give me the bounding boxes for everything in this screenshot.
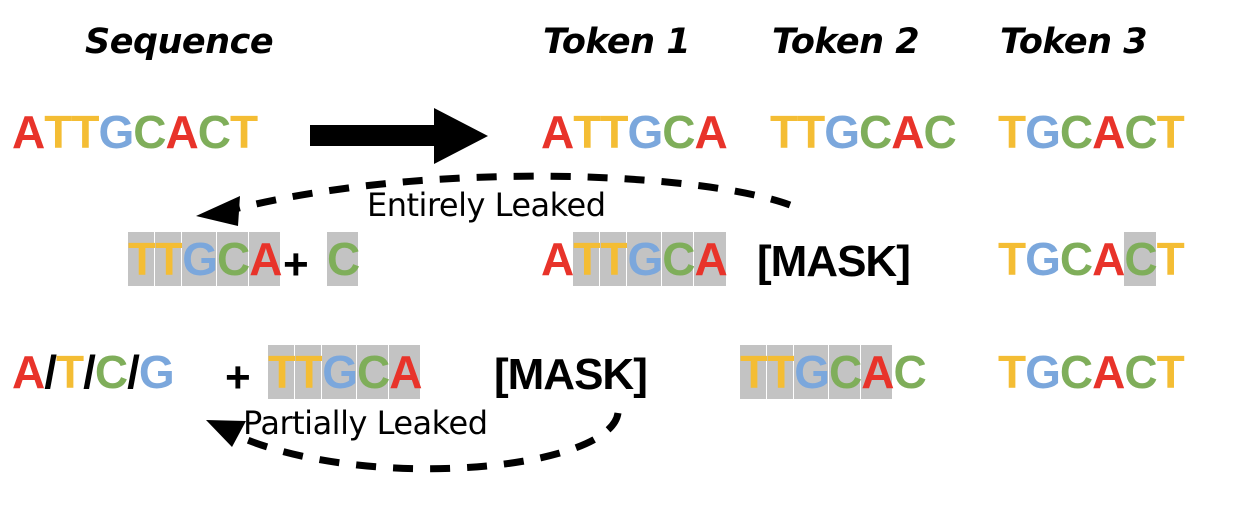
dna-base-C: C: [923, 105, 955, 159]
row3-token-1-mask: [MASK]: [494, 353, 647, 397]
row1-token-2: TTGCAC: [770, 105, 956, 159]
dna-base-T: T: [600, 232, 627, 286]
dna-base-G: G: [139, 345, 174, 399]
annotation-partially-leaked: Partially Leaked: [243, 404, 488, 442]
dna-base-C: C: [95, 345, 127, 399]
diagram-canvas: Sequence Token 1 Token 2 Token 3 ATTGCAC…: [0, 0, 1236, 526]
header-token-3: Token 3: [1000, 22, 1147, 62]
dna-base-A: A: [1092, 232, 1124, 286]
row3-token-3: TGCACT: [998, 345, 1184, 399]
row3-context-sequence: A/T/C/G: [12, 345, 174, 399]
row1-token-1: ATTGCA: [541, 105, 727, 159]
dna-base-C: C: [133, 105, 165, 159]
dna-base-A: A: [891, 105, 923, 159]
row1-token-3: TGCACT: [998, 105, 1184, 159]
dna-base-A: A: [1092, 345, 1124, 399]
dna-base-sep: /: [127, 345, 139, 399]
right-arrow-icon: [310, 108, 488, 164]
dna-base-T: T: [1157, 105, 1184, 159]
dna-base-G: G: [1025, 105, 1060, 159]
row2-context-sequence: TTGCA: [128, 232, 281, 286]
dna-base-C: C: [893, 345, 925, 399]
dna-base-A: A: [694, 232, 726, 286]
dna-base-C: C: [1060, 345, 1092, 399]
dna-base-T: T: [767, 345, 794, 399]
dna-base-T: T: [998, 345, 1025, 399]
dna-base-G: G: [182, 232, 217, 286]
dna-base-C: C: [198, 105, 230, 159]
dna-base-C: C: [662, 232, 694, 286]
dna-base-A: A: [12, 345, 44, 399]
dna-base-A: A: [165, 105, 197, 159]
dna-base-C: C: [662, 105, 694, 159]
dna-base-T: T: [71, 105, 98, 159]
row3-token-2: TTGCAC: [740, 345, 926, 399]
dna-base-A: A: [694, 105, 726, 159]
annotation-entirely-leaked: Entirely Leaked: [367, 186, 606, 224]
dna-base-A: A: [389, 345, 421, 399]
dna-base-T: T: [600, 105, 627, 159]
row1-source-sequence: ATTGCACT: [12, 105, 257, 159]
dna-base-T: T: [230, 105, 257, 159]
dna-base-G: G: [794, 345, 829, 399]
dna-base-C: C: [327, 232, 359, 286]
dna-base-C: C: [357, 345, 389, 399]
dna-base-C: C: [1060, 232, 1092, 286]
dna-base-G: G: [322, 345, 357, 399]
dna-base-T: T: [155, 232, 182, 286]
dna-base-C: C: [1124, 232, 1156, 286]
dna-base-T: T: [797, 105, 824, 159]
dna-base-A: A: [541, 105, 573, 159]
dna-base-T: T: [770, 105, 797, 159]
dna-base-T: T: [740, 345, 767, 399]
dna-base-G: G: [98, 105, 133, 159]
dna-base-G: G: [1025, 345, 1060, 399]
row3-target-sequence: TTGCA: [268, 345, 421, 399]
header-sequence: Sequence: [85, 22, 273, 62]
dna-base-A: A: [12, 105, 44, 159]
dna-base-C: C: [829, 345, 861, 399]
dna-base-C: C: [859, 105, 891, 159]
dna-base-T: T: [56, 345, 83, 399]
dna-base-T: T: [44, 105, 71, 159]
dna-base-sep: /: [83, 345, 95, 399]
dna-base-T: T: [1157, 345, 1184, 399]
dna-base-T: T: [268, 345, 295, 399]
dna-base-A: A: [861, 345, 893, 399]
dna-base-G: G: [627, 105, 662, 159]
header-token-1: Token 1: [543, 22, 690, 62]
row2-token-2-mask: [MASK]: [757, 240, 910, 284]
dna-base-C: C: [1124, 105, 1156, 159]
row3-plus-sign: +: [225, 356, 251, 400]
dna-base-T: T: [573, 232, 600, 286]
dna-base-C: C: [217, 232, 249, 286]
dna-base-A: A: [249, 232, 281, 286]
dna-base-A: A: [541, 232, 573, 286]
dna-base-G: G: [824, 105, 859, 159]
row2-token-3: TGCACT: [998, 232, 1184, 286]
dna-base-A: A: [1092, 105, 1124, 159]
dna-base-T: T: [1157, 232, 1184, 286]
dna-base-T: T: [998, 105, 1025, 159]
dna-base-T: T: [128, 232, 155, 286]
row2-token-1: ATTGCA: [541, 232, 727, 286]
header-token-2: Token 2: [772, 22, 919, 62]
dna-base-T: T: [998, 232, 1025, 286]
row2-plus-sign: +: [283, 243, 309, 287]
dna-base-C: C: [1060, 105, 1092, 159]
dna-base-sep: /: [44, 345, 56, 399]
dna-base-C: C: [1124, 345, 1156, 399]
dna-base-T: T: [573, 105, 600, 159]
dna-base-G: G: [627, 232, 662, 286]
row2-target-base: C: [327, 232, 359, 286]
dna-base-G: G: [1025, 232, 1060, 286]
dna-base-T: T: [295, 345, 322, 399]
